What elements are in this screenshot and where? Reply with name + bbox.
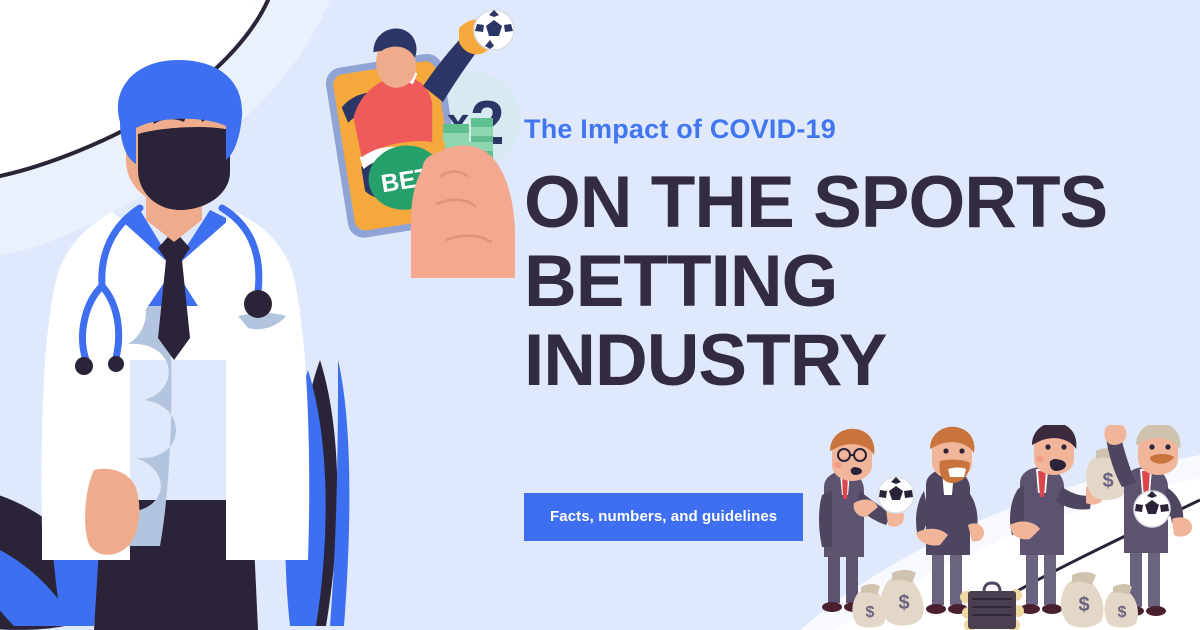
headline-line-1: ON THE SPORTS [524,169,1194,236]
headline-block: The Impact of COVID-19 ON THE SPORTS BET… [524,116,1194,406]
briefcase-handle [984,583,1000,591]
doctor-illustration [0,60,350,630]
face-mask [138,127,230,210]
svg-text:$: $ [866,604,875,621]
svg-text:$: $ [1078,594,1089,616]
eye-left [161,129,171,139]
bearded-businessman-thinking [916,427,984,614]
stethoscope-earpiece-right [108,356,124,372]
svg-text:$: $ [1102,470,1113,492]
eye-right [209,129,219,139]
businessmen-illustration: $ [800,425,1200,630]
money-bag-group-left: $ $ [852,570,923,628]
money-bag-group-right: $ $ [1061,572,1138,628]
svg-text:$: $ [898,592,909,614]
headline-line-2: BETTING [524,248,1194,315]
doctor-hand [85,469,139,555]
svg-text:$: $ [1118,604,1127,621]
poster-canvas: BET x 2 [0,0,1200,630]
necktie [158,230,190,360]
page-title: ON THE SPORTS BETTING INDUSTRY [524,169,1194,394]
eyebrow-text: The Impact of COVID-19 [524,116,1194,143]
stethoscope-earpiece-left [75,357,93,375]
headline-line-3: INDUSTRY [524,327,1194,394]
betting-phone-illustration: BET x 2 [315,8,530,278]
stethoscope-chestpiece [244,290,272,318]
briefcase [960,583,1024,630]
cta-button[interactable]: Facts, numbers, and guidelines [524,493,803,541]
